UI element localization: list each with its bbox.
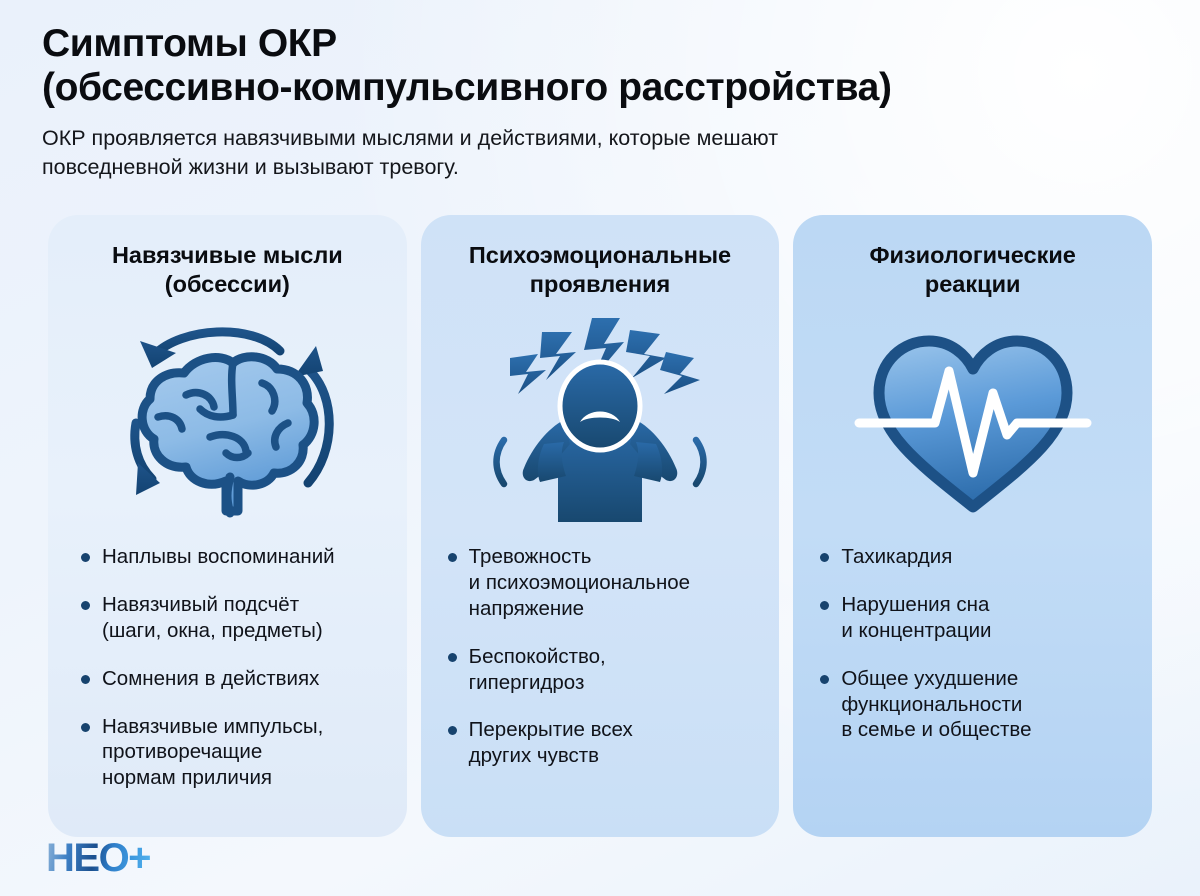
card-physiological: Физиологические реакции Тахикардия — [793, 215, 1152, 837]
card-obsessive-thoughts: Навязчивые мысли (обсессии) — [48, 215, 407, 837]
page-subtitle: ОКР проявляется навязчивыми мыслями и де… — [42, 124, 1082, 181]
heart-pulse-icon — [793, 300, 1152, 540]
list-item: Наплывы воспоминаний — [80, 544, 383, 570]
card-title-obsessive-thoughts: Навязчивые мысли (обсессии) — [94, 241, 361, 298]
bullet-list-physiological: Тахикардия Нарушения сна и концентрации … — [793, 544, 1152, 743]
list-item: Общее ухудшение функциональности в семье… — [819, 666, 1128, 743]
card-psychoemotional: Психоэмоциональные проявления — [421, 215, 780, 837]
list-item: Тахикардия — [819, 544, 1128, 570]
list-item: Навязчивые импульсы, противоречащие норм… — [80, 714, 383, 791]
list-item: Тревожность и психоэмоциональное напряже… — [447, 544, 756, 621]
brand-logo-text: НЕО+ — [46, 838, 150, 878]
bullet-list-psychoemotional: Тревожность и психоэмоциональное напряже… — [421, 544, 780, 769]
page-title: Симптомы ОКР (обсессивно-компульсивного … — [42, 22, 1160, 110]
list-item: Перекрытие всех других чувств — [447, 717, 756, 769]
list-item: Беспокойство, гипергидроз — [447, 644, 756, 696]
brand-logo: НЕО+ — [46, 834, 150, 882]
symptom-cards-row: Навязчивые мысли (обсессии) — [48, 215, 1152, 837]
header: Симптомы ОКР (обсессивно-компульсивного … — [42, 22, 1160, 181]
list-item: Навязчивый подсчёт (шаги, окна, предметы… — [80, 592, 383, 644]
card-title-psychoemotional: Психоэмоциональные проявления — [451, 241, 749, 298]
card-title-physiological: Физиологические реакции — [852, 241, 1094, 298]
stressed-person-icon — [421, 300, 780, 540]
bullet-list-obsessive-thoughts: Наплывы воспоминаний Навязчивый подсчёт … — [48, 544, 407, 791]
list-item: Нарушения сна и концентрации — [819, 592, 1128, 644]
list-item: Сомнения в действиях — [80, 666, 383, 692]
brain-cycle-icon — [48, 300, 407, 540]
